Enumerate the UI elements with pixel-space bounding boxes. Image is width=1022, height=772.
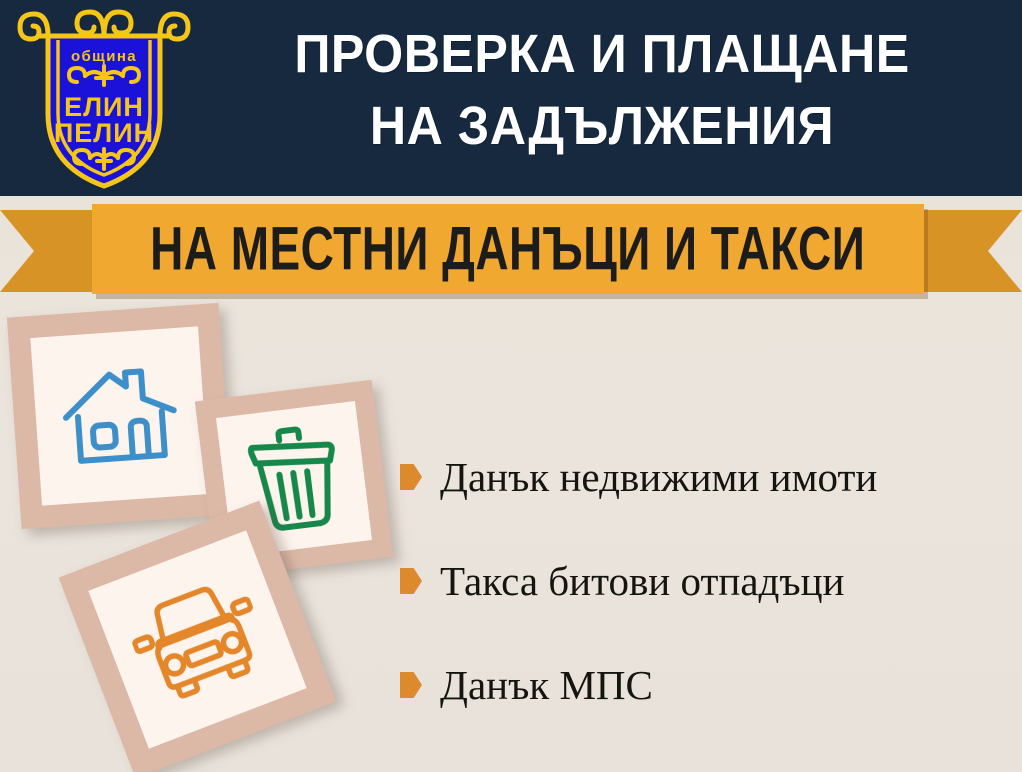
list-item[interactable]: Такса битови отпадъци [400,529,1010,633]
arrow-bullet-icon [400,568,422,594]
stamp-paper-house [30,326,209,505]
poster-canvas: община ЕЛИН ПЕЛИН [0,0,1022,772]
crest-name-line-2: ПЕЛИН [54,118,154,148]
crest-municipality-word: община [71,48,137,65]
coat-of-arms-elin-pelin: община ЕЛИН ПЕЛИН [14,6,194,192]
subtitle-ribbon: НА МЕСТНИ ДАНЪЦИ И ТАКСИ [0,196,1022,306]
list-item[interactable]: Данък недвижими имоти [400,425,1010,529]
page-title-line-2: НА ЗАДЪЛЖЕНИЯ [224,90,979,162]
header-bar: община ЕЛИН ПЕЛИН [0,0,1022,196]
list-item-label: Данък недвижими имоти [440,454,877,500]
ribbon-label: НА МЕСТНИ ДАНЪЦИ И ТАКСИ [150,217,865,280]
tax-type-list: Данък недвижими имоти Такса битови отпад… [400,425,1010,737]
list-item-label: Данък МПС [440,662,653,708]
stamp-collage [0,300,420,772]
header-title-block: ПРОВЕРКА И ПЛАЩАНЕ НА ЗАДЪЛЖЕНИЯ [196,18,1008,162]
arrow-bullet-icon [400,464,422,490]
arrow-bullet-icon [400,672,422,698]
list-item-label: Такса битови отпадъци [440,558,844,604]
house-icon [56,358,183,474]
car-front-icon [119,567,275,713]
list-item[interactable]: Данък МПС [400,633,1010,737]
page-title-line-1: ПРОВЕРКА И ПЛАЩАНЕ [224,18,979,90]
ribbon-panel: НА МЕСТНИ ДАНЪЦИ И ТАКСИ [92,204,924,294]
